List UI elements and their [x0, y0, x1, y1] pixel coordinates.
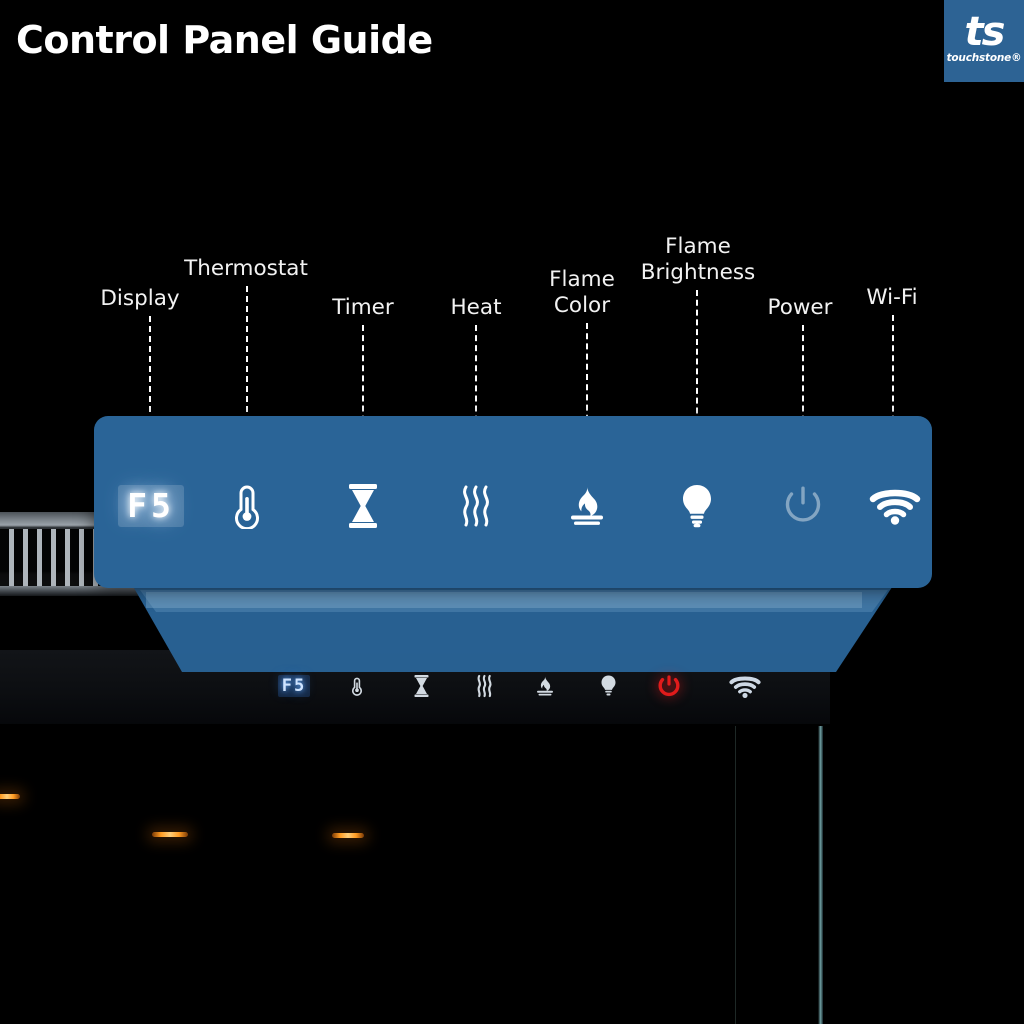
callout-label-line: Flame — [549, 267, 615, 293]
icon-flame-color[interactable] — [561, 478, 613, 533]
callout-label-line: Timer — [332, 295, 393, 321]
device-icon-flame-brightness[interactable] — [591, 668, 625, 704]
device-icon-display[interactable]: F5 — [272, 668, 316, 704]
page-title: Control Panel Guide — [16, 18, 433, 62]
icon-timer[interactable] — [337, 478, 389, 533]
callout-label-heat: Heat — [451, 295, 502, 321]
wifi-icon — [869, 486, 921, 526]
callout-label-line: Power — [767, 295, 832, 321]
power-icon — [657, 674, 681, 699]
callout-label-line: Wi-Fi — [866, 285, 917, 311]
callout-label-line: Thermostat — [184, 256, 308, 282]
callout-label-line: Brightness — [641, 260, 756, 286]
light-bulb-icon — [680, 483, 714, 529]
icon-heat[interactable] — [450, 478, 502, 533]
glass-inner-edge — [735, 726, 736, 1024]
brand-mark: ts — [965, 14, 1004, 51]
device-icon-power[interactable] — [652, 668, 686, 704]
icon-thermostat[interactable] — [221, 478, 273, 533]
heat-waves-icon — [475, 674, 494, 698]
glass-edge — [818, 726, 823, 1024]
ember-glow — [152, 832, 188, 837]
thermometer-icon — [349, 673, 365, 699]
power-icon — [782, 484, 824, 528]
callout-label-timer: Timer — [332, 295, 393, 321]
hourglass-icon — [413, 673, 430, 699]
thermometer-icon — [227, 483, 267, 529]
icon-wifi[interactable] — [867, 478, 923, 533]
hourglass-icon — [346, 483, 380, 529]
seven-segment-display-icon: F5 — [118, 485, 184, 527]
device-icon-heat[interactable] — [467, 668, 501, 704]
device-icon-timer[interactable] — [404, 668, 438, 704]
icon-display[interactable]: F5 — [115, 478, 187, 533]
heat-waves-icon — [458, 484, 494, 528]
ember-glow — [0, 794, 20, 799]
seven-segment-display-icon: F5 — [278, 675, 310, 697]
device-icon-flame-color[interactable] — [528, 668, 562, 704]
brand-logo: ts touchstone® — [944, 0, 1024, 82]
ember-glow — [332, 833, 364, 838]
device-icon-thermostat[interactable] — [340, 668, 374, 704]
callout-label-flame-brightness: FlameBrightness — [641, 234, 756, 286]
callout-label-line: Heat — [451, 295, 502, 321]
icon-power[interactable] — [777, 478, 829, 533]
callout-label-power: Power — [767, 295, 832, 321]
callout-label-wifi: Wi-Fi — [866, 285, 917, 311]
device-icon-wifi[interactable] — [726, 668, 764, 704]
callout-label-line: Flame — [641, 234, 756, 260]
callout-label-line: Color — [549, 293, 615, 319]
callout-label-thermostat: Thermostat — [184, 256, 308, 282]
wifi-icon — [729, 674, 761, 699]
flame-on-logs-icon — [565, 484, 609, 528]
callout-label-flame-color: FlameColor — [549, 267, 615, 319]
icon-flame-brightness[interactable] — [671, 478, 723, 533]
brand-wordmark: touchstone® — [947, 52, 1022, 64]
light-bulb-icon — [600, 674, 617, 698]
firebox-interior — [0, 724, 830, 1024]
callout-label-display: Display — [100, 286, 179, 312]
flame-on-logs-icon — [534, 675, 556, 697]
callout-label-line: Display — [100, 286, 179, 312]
